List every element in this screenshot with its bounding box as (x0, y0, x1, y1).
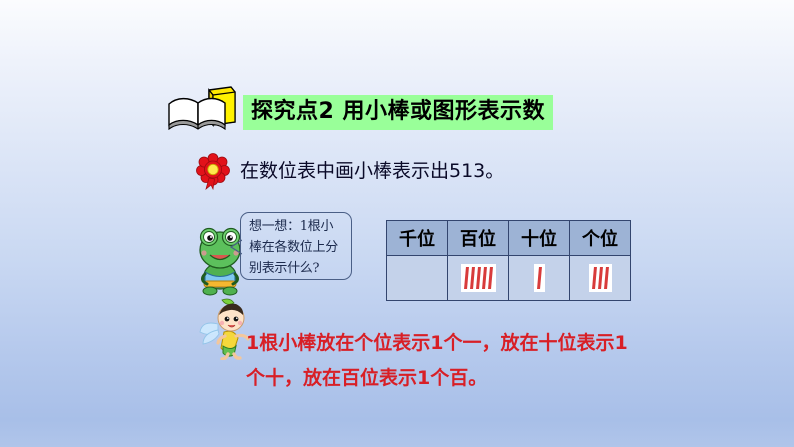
table-cell-hundreds[interactable] (448, 256, 509, 301)
tally-stick (537, 267, 542, 289)
page-title: 探究点2 用小棒或图形表示数 (251, 101, 545, 123)
tally-stick (464, 267, 469, 289)
slide-canvas: 探究点2 用小棒或图形表示数 在数位表中画小棒 (0, 0, 794, 447)
tally-stick (488, 267, 493, 289)
stick-group-tens (534, 264, 545, 292)
table-cell-thousands[interactable] (387, 256, 448, 301)
conclusion-line-2: 个十，放在百位表示1个百。 (246, 361, 666, 396)
tally-stick (592, 267, 597, 289)
table-row (387, 256, 631, 301)
speech-bubble-tail-icon (230, 239, 242, 255)
speech-bubble-line-3: 别表示什么? (249, 258, 346, 279)
table-header-ones: 个位 (570, 221, 631, 256)
red-flower-rosette-icon (196, 152, 230, 190)
title-row: 探究点2 用小棒或图形表示数 (165, 82, 553, 130)
table-cell-tens[interactable] (509, 256, 570, 301)
table-header-tens: 十位 (509, 221, 570, 256)
title-highlight-band: 探究点2 用小棒或图形表示数 (243, 95, 553, 130)
table-header-hundreds: 百位 (448, 221, 509, 256)
speech-bubble: 想一想：1根小 棒在各数位上分 别表示什么? (240, 212, 352, 280)
prompt-text: 在数位表中画小棒表示出513。 (240, 162, 504, 181)
stick-group-ones (589, 264, 612, 292)
conclusion-line-1: 1根小棒放在个位表示1个一，放在十位表示1 (246, 326, 666, 361)
stick-group-hundreds (461, 264, 496, 292)
tally-stick (470, 267, 475, 289)
table-cell-ones[interactable] (570, 256, 631, 301)
tally-stick (598, 267, 603, 289)
conclusion-text: 1根小棒放在个位表示1个一，放在十位表示1 个十，放在百位表示1个百。 (246, 326, 666, 396)
open-book-icon (165, 84, 237, 132)
prompt-row: 在数位表中画小棒表示出513。 (196, 152, 504, 190)
table-header-row: 千位 百位 十位 个位 (387, 221, 631, 256)
tally-stick (476, 267, 481, 289)
tally-stick (604, 267, 609, 289)
speech-bubble-line-2: 棒在各数位上分 (249, 237, 346, 258)
tally-stick (482, 267, 487, 289)
place-value-table: 千位 百位 十位 个位 (386, 220, 631, 301)
speech-bubble-line-1: 想一想：1根小 (249, 216, 346, 237)
table-header-thousands: 千位 (387, 221, 448, 256)
